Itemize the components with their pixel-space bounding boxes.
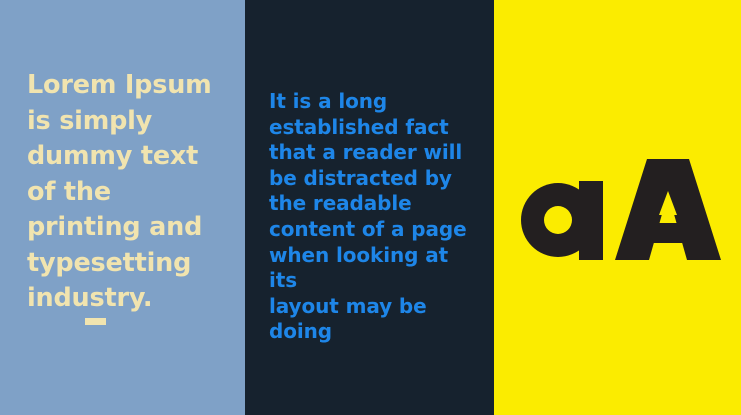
quote-primary-text: Lorem Ipsum is simply dummy text of the … <box>27 68 232 317</box>
panel-glyph-showcase: aA <box>494 0 741 415</box>
font-specimen-canvas: Lorem Ipsum is simply dummy text of the … <box>0 0 741 415</box>
glyph-lowercase-a <box>521 181 603 260</box>
dash-rule-icon <box>85 318 106 325</box>
glyph-uppercase-A <box>615 159 721 260</box>
panel-quote-primary: Lorem Ipsum is simply dummy text of the … <box>0 0 245 415</box>
glyph-pair-svg <box>521 155 721 275</box>
glyph-pair-aA: aA <box>521 155 721 275</box>
panel-quote-secondary: It is a long established fact that a rea… <box>245 0 494 415</box>
quote-secondary-text: It is a long established fact that a rea… <box>269 89 481 345</box>
